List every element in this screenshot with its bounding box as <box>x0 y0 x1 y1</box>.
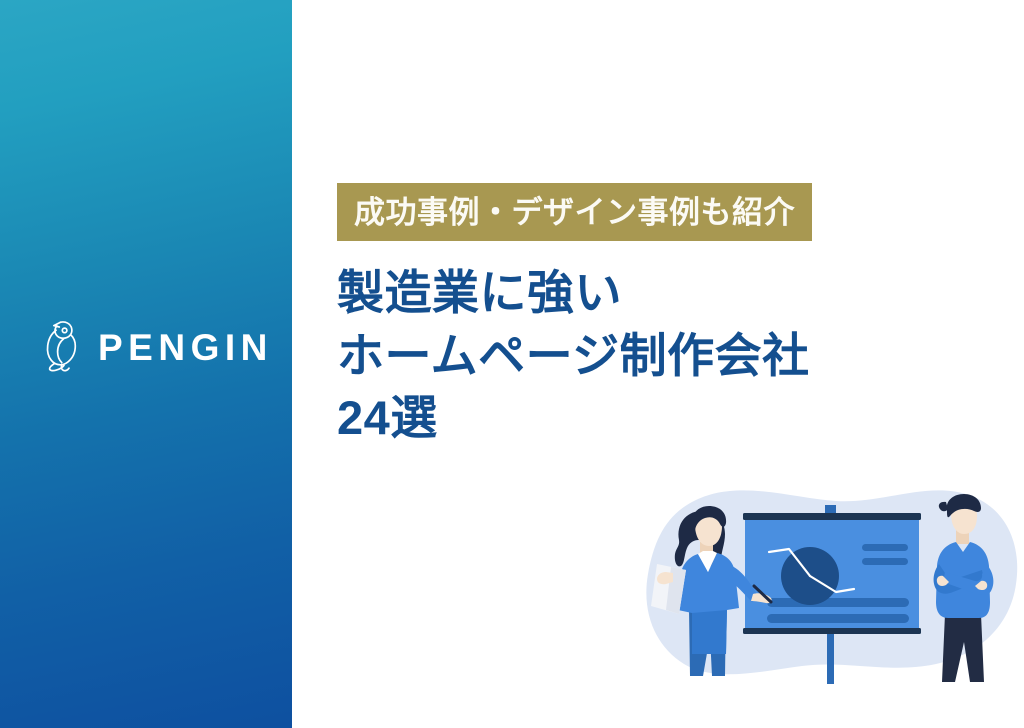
board-top-rail <box>743 513 921 520</box>
board-text-bar-3 <box>767 598 909 607</box>
penguin-icon <box>40 318 84 376</box>
board-text-bar-2 <box>862 558 908 565</box>
eyebrow-badge: 成功事例・デザイン事例も紹介 <box>337 183 812 241</box>
brand-wordmark: PENGIN <box>98 329 273 366</box>
title-line-3: 24選 <box>337 387 977 450</box>
board-text-bar-4 <box>767 614 909 623</box>
presentation-illustration <box>640 468 1024 700</box>
board-bottom-rail <box>743 628 921 634</box>
content-area: 成功事例・デザイン事例も紹介 製造業に強い ホームページ制作会社 24選 <box>292 0 1024 728</box>
title-line-1: 製造業に強い <box>337 262 977 325</box>
brand-panel: PENGIN <box>0 0 292 728</box>
title-line-2: ホームページ制作会社 <box>337 325 977 388</box>
board-text-bar-1 <box>862 544 908 551</box>
board-pole <box>827 628 834 684</box>
page-title: 製造業に強い ホームページ制作会社 24選 <box>337 262 977 450</box>
hero-banner-canvas: PENGIN 成功事例・デザイン事例も紹介 製造業に強い ホームページ制作会社 … <box>0 0 1024 728</box>
brand-lockup[interactable]: PENGIN <box>40 318 273 376</box>
woman-lapel-shadow <box>692 610 727 654</box>
presentation-illustration-svg <box>640 468 1024 700</box>
eyebrow-label: 成功事例・デザイン事例も紹介 <box>354 197 795 228</box>
